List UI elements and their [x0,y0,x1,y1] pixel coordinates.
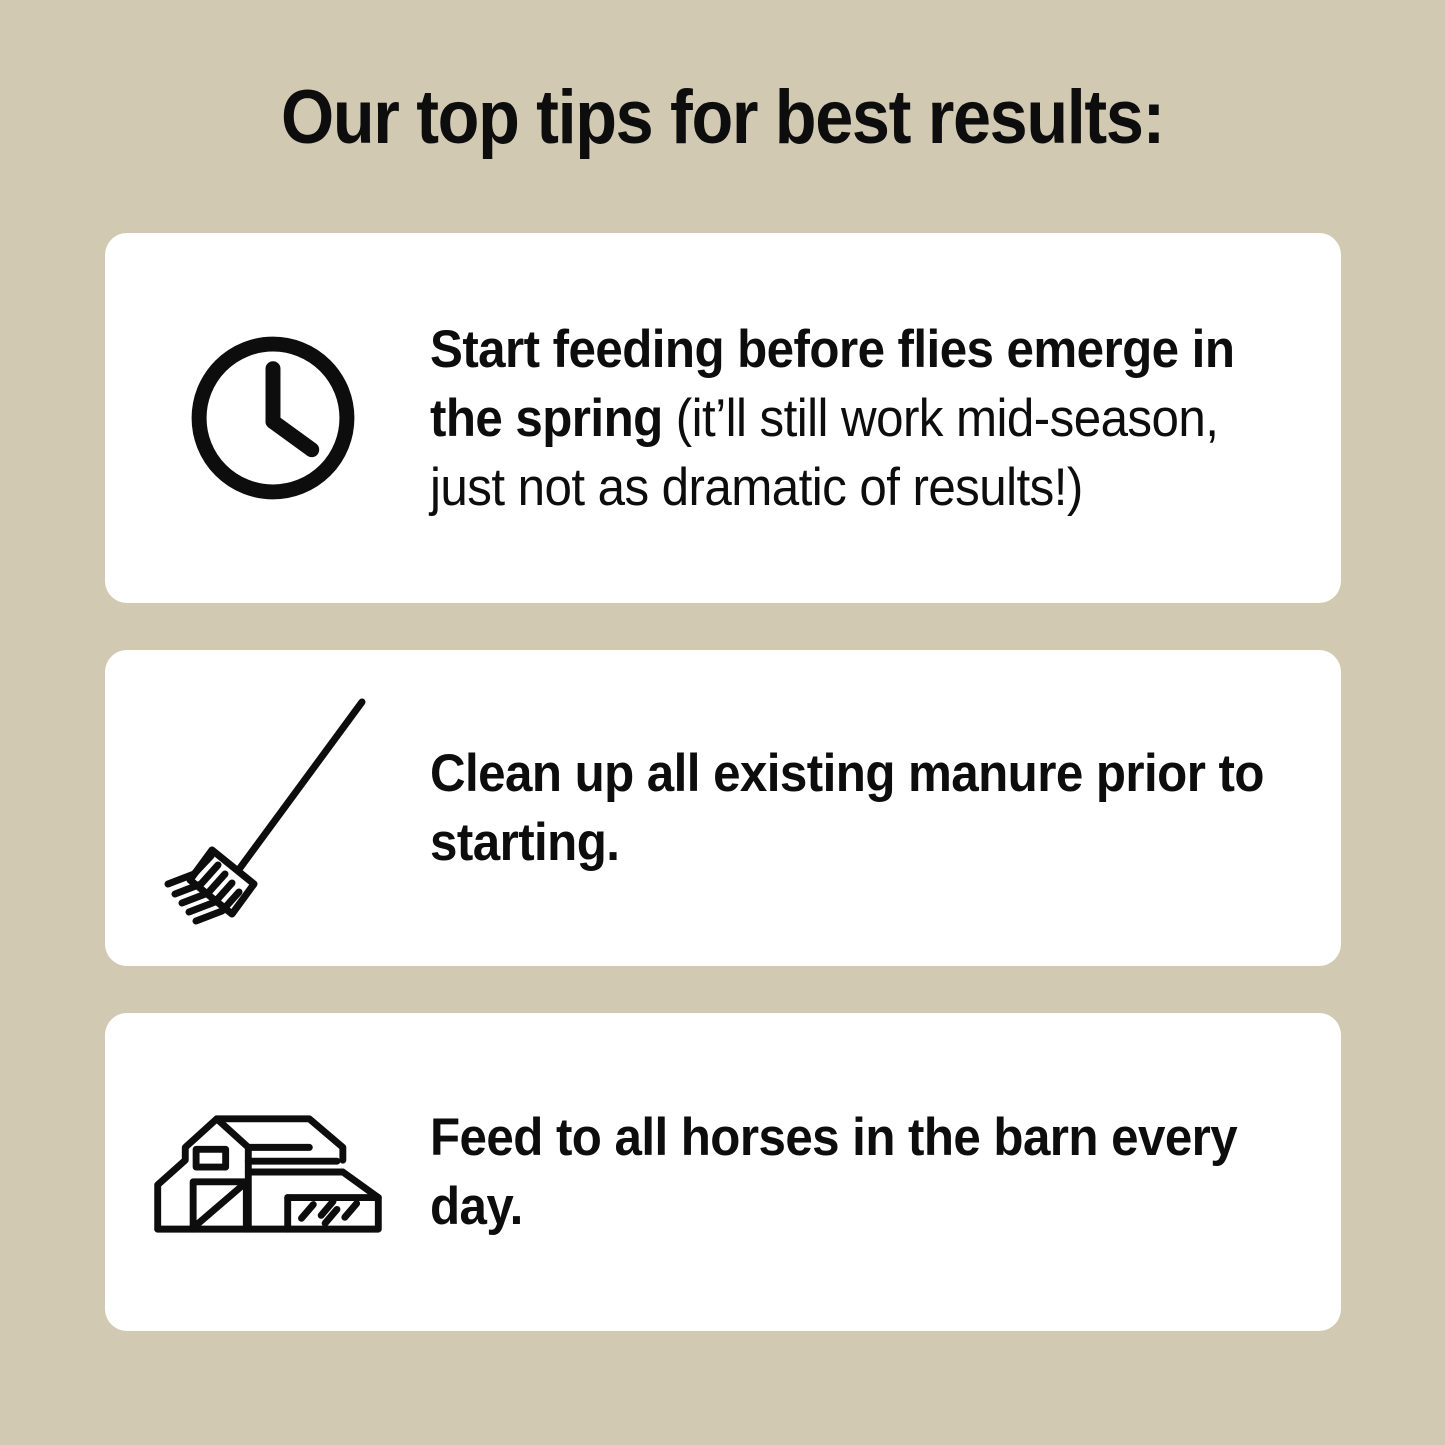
tip-card-2-icon-area [105,650,430,966]
tip-card-1-text: Start feeding before flies emerge in the… [430,315,1271,522]
clock-icon [185,330,361,506]
tip-card-3-icon-area [105,1013,430,1331]
tip-card-1: Start feeding before flies emerge in the… [105,233,1341,603]
barn-icon [149,1107,387,1237]
tip-card-1-icon-area [105,233,430,603]
tip-card-3-text: Feed to all horses in the barn every day… [430,1103,1271,1241]
tip-card-2-text: Clean up all existing manure prior to st… [430,739,1271,877]
tip-card-1-body: Start feeding before flies emerge in the… [430,315,1341,522]
tip-card-2-body: Clean up all existing manure prior to st… [430,739,1341,877]
tip-card-3-bold: Feed to all horses in the barn every day… [430,1108,1237,1236]
tip-card-3: Feed to all horses in the barn every day… [105,1013,1341,1331]
tip-card-2: Clean up all existing manure prior to st… [105,650,1341,966]
tip-card-2-bold: Clean up all existing manure prior to st… [430,744,1264,872]
manure-fork-icon [164,688,378,928]
page-title: Our top tips for best results: [72,78,1373,158]
tip-card-3-body: Feed to all horses in the barn every day… [430,1103,1341,1241]
tips-infographic: Our top tips for best results: Start fee… [0,0,1445,1445]
